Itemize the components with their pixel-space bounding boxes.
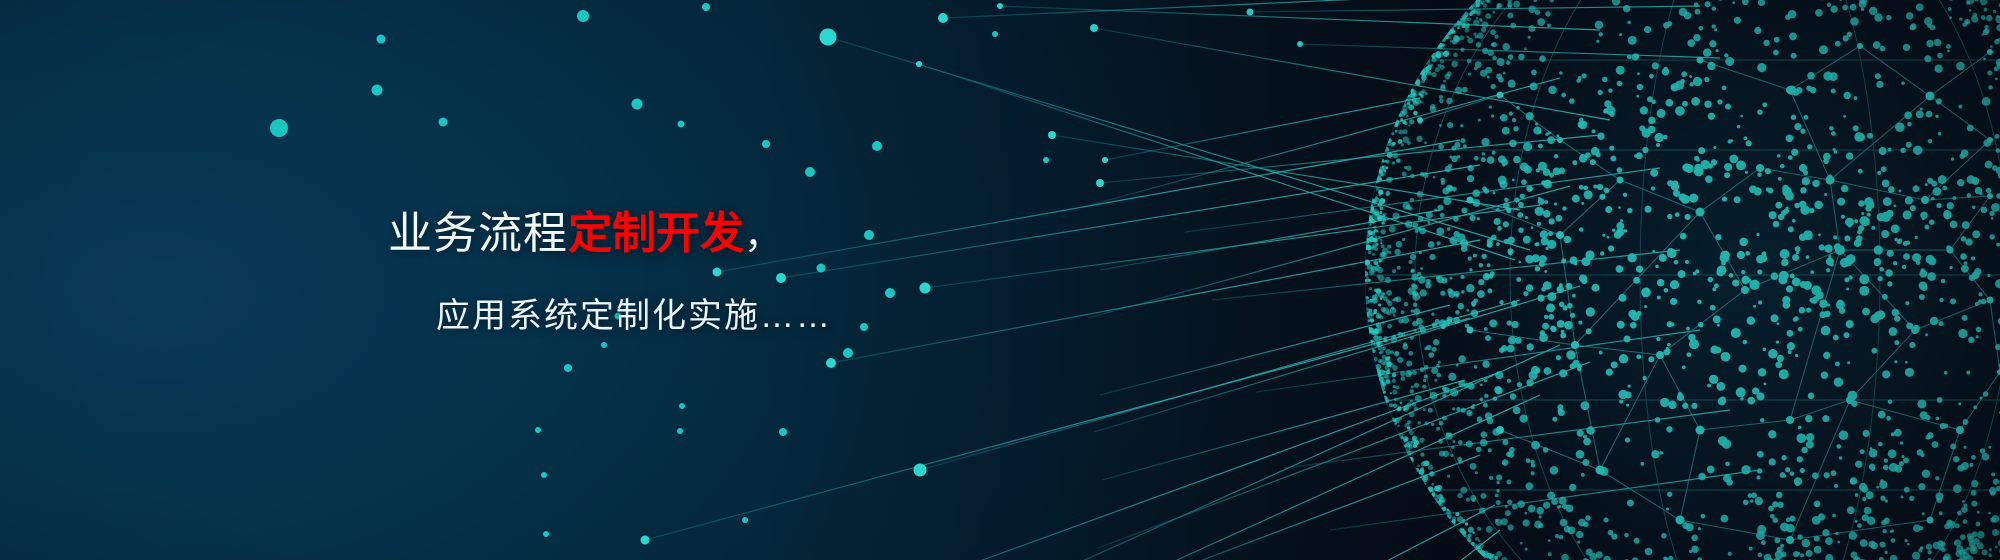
headline: 业务流程定制开发，	[388, 208, 832, 260]
hero-banner: 业务流程定制开发， 应用系统定制化实施……	[0, 0, 2000, 560]
headline-accent: 定制开发	[568, 209, 744, 258]
subheadline: 应用系统定制化实施……	[436, 288, 832, 337]
globe-network-graphic	[0, 0, 2000, 560]
headline-prefix: 业务流程	[388, 209, 568, 258]
headline-comma: ，	[744, 215, 783, 257]
banner-copy: 业务流程定制开发， 应用系统定制化实施……	[388, 208, 832, 337]
